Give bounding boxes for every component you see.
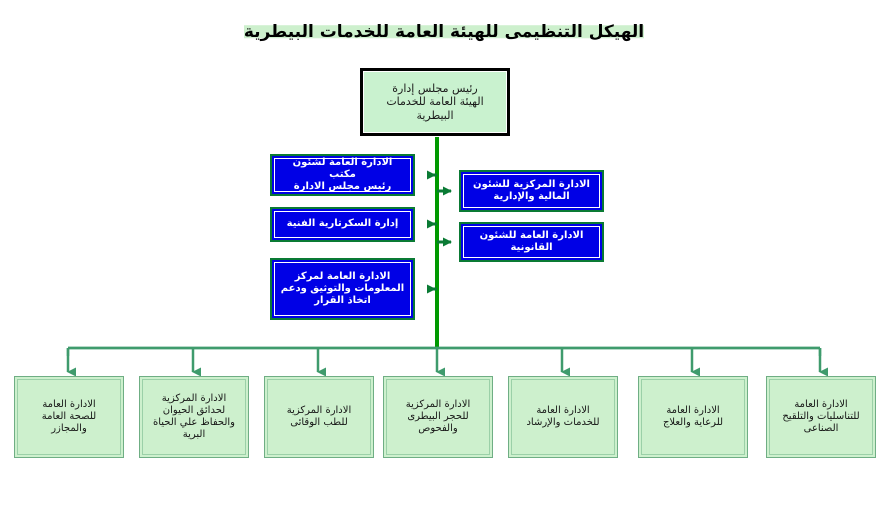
node-dept-reproduction-label: الادارة العامة للتناسليات والتلقيح الصنا… bbox=[770, 399, 872, 436]
page-title-text: الهيكل التنظيمى للهيئة العامة للخدمات ال… bbox=[244, 22, 644, 42]
node-staff-office[interactable]: الادارة العامة لشئون مكتب رئيس مجلس الاد… bbox=[270, 154, 415, 196]
node-dept-services-guidance-label: الادارة العامة للخدمات والإرشاد bbox=[512, 405, 614, 429]
node-staff-secretariat-label: إدارة السكرتارية الفنية bbox=[275, 218, 410, 230]
node-staff-legal-label: الادارة العامة للشئون القانونية bbox=[464, 230, 599, 254]
node-dept-preventive-medicine[interactable]: الادارة المركزية للطب الوقائى bbox=[264, 376, 374, 458]
department-bus-line bbox=[68, 348, 820, 356]
node-staff-secretariat[interactable]: إدارة السكرتارية الفنية bbox=[270, 207, 415, 242]
node-dept-reproduction[interactable]: الادارة العامة للتناسليات والتلقيح الصنا… bbox=[766, 376, 876, 458]
node-dept-zoos[interactable]: الادارة المركزية لحدائق الحيوان والحفاظ … bbox=[139, 376, 249, 458]
page-title: الهيكل التنظيمى للهيئة العامة للخدمات ال… bbox=[0, 22, 888, 42]
node-dept-services-guidance[interactable]: الادارة العامة للخدمات والإرشاد bbox=[508, 376, 618, 458]
node-staff-finance[interactable]: الادارة المركزية للشئون المالية والإداري… bbox=[459, 170, 604, 212]
node-dept-public-health[interactable]: الادارة العامة للصحة العامة والمجازر bbox=[14, 376, 124, 458]
node-dept-quarantine[interactable]: الادارة المركزية للحجر البيطرى والفحوص bbox=[383, 376, 493, 458]
node-staff-legal[interactable]: الادارة العامة للشئون القانونية bbox=[459, 222, 604, 262]
node-dept-public-health-label: الادارة العامة للصحة العامة والمجازر bbox=[18, 399, 120, 436]
node-staff-office-label: الادارة العامة لشئون مكتب رئيس مجلس الاد… bbox=[275, 157, 410, 194]
node-root-chairman-label: رئيس مجلس إدارة الهيئة العامة للخدمات ال… bbox=[363, 82, 507, 122]
node-staff-finance-label: الادارة المركزية للشئون المالية والإداري… bbox=[464, 179, 599, 203]
node-dept-care-treatment-label: الادارة العامة للرعاية والعلاج bbox=[642, 405, 744, 429]
node-dept-care-treatment[interactable]: الادارة العامة للرعاية والعلاج bbox=[638, 376, 748, 458]
node-root-chairman[interactable]: رئيس مجلس إدارة الهيئة العامة للخدمات ال… bbox=[360, 68, 510, 136]
node-dept-quarantine-label: الادارة المركزية للحجر البيطرى والفحوص bbox=[387, 399, 489, 436]
node-dept-preventive-medicine-label: الادارة المركزية للطب الوقائى bbox=[268, 405, 370, 429]
org-chart-canvas: الهيكل التنظيمى للهيئة العامة للخدمات ال… bbox=[0, 0, 888, 522]
node-dept-zoos-label: الادارة المركزية لحدائق الحيوان والحفاظ … bbox=[143, 393, 245, 442]
node-staff-information-center[interactable]: الادارة العامة لمركز المعلومات والتوثيق … bbox=[270, 258, 415, 320]
node-staff-information-center-label: الادارة العامة لمركز المعلومات والتوثيق … bbox=[275, 271, 410, 308]
